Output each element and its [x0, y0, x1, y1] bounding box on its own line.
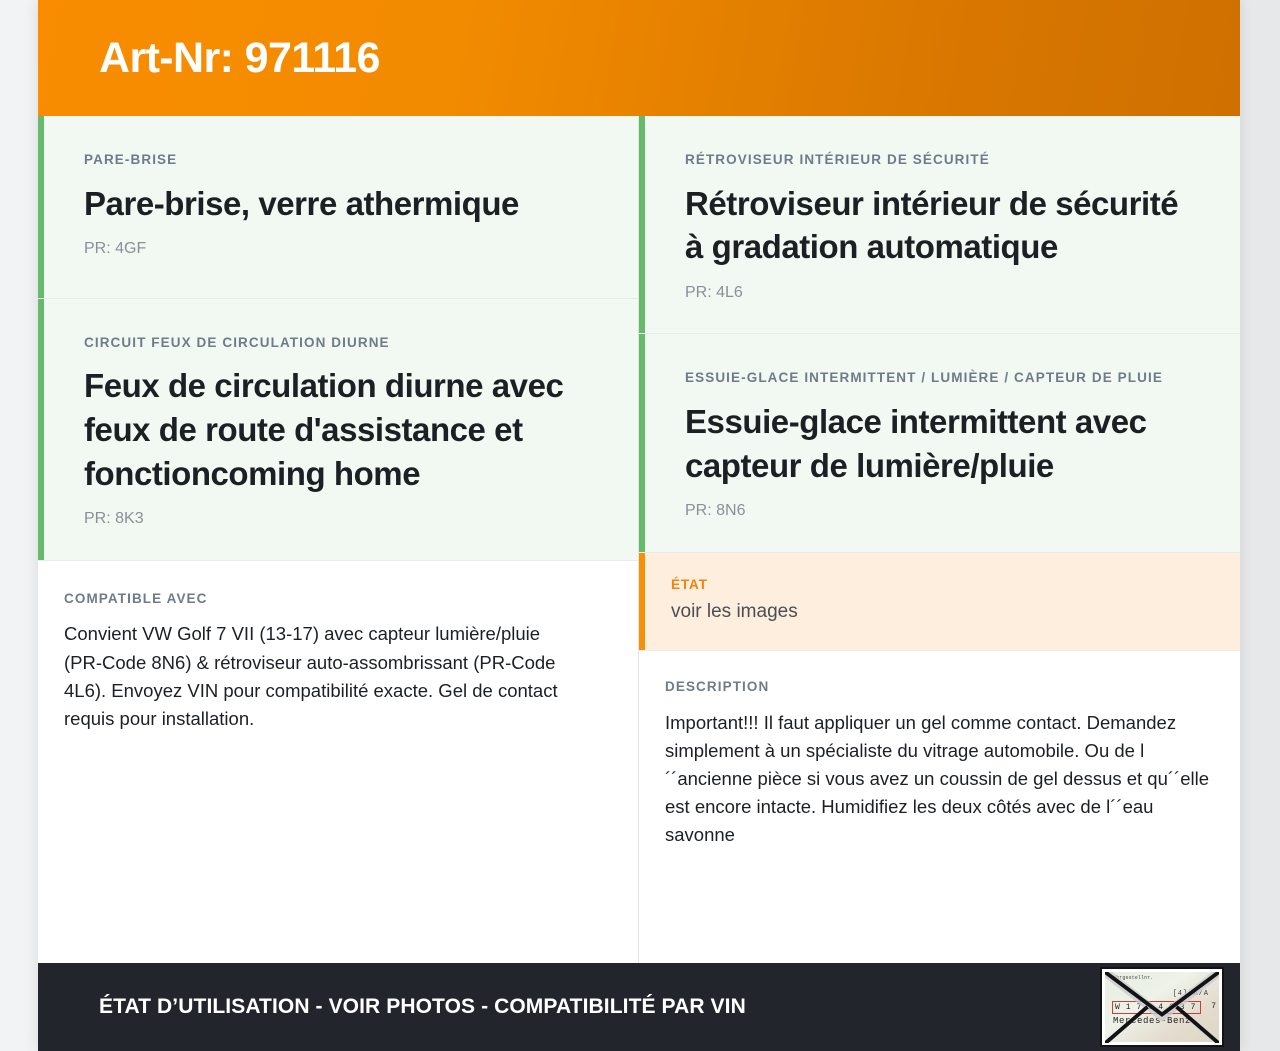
feature-card-retroviseur: RÉTROVISEUR INTÉRIEUR DE SÉCURITÉ Rétrov…: [639, 116, 1240, 334]
feature-title: Essuie-glace intermittent avec capteur d…: [685, 400, 1200, 487]
feature-pr-code: PR: 4L6: [685, 283, 1200, 304]
content-columns: PARE-BRISE Pare-brise, verre athermique …: [38, 116, 1240, 963]
feature-title: Rétroviseur intérieur de sécurité à grad…: [685, 182, 1200, 269]
vin-envelope-badge: Fahrgestellnr. [4] A/A W 1 7 1 4 6 3 7 3…: [1100, 967, 1224, 1047]
footer-bar: ÉTAT D’UTILISATION - VOIR PHOTOS - COMPA…: [38, 963, 1240, 1051]
feature-card-essuie-glace: ESSUIE-GLACE INTERMITTENT / LUMIÈRE / CA…: [639, 334, 1240, 552]
right-column-spacer: [639, 869, 1240, 963]
feature-eyebrow: CIRCUIT FEUX DE CIRCULATION DIURNE: [84, 333, 578, 353]
page-title: Art-Nr: 971116: [99, 37, 380, 80]
feature-title: Pare-brise, verre athermique: [84, 182, 578, 226]
state-card: ÉTAT voir les images: [639, 553, 1240, 651]
footer-text: ÉTAT D’UTILISATION - VOIR PHOTOS - COMPA…: [99, 995, 746, 1019]
feature-eyebrow: PARE-BRISE: [84, 150, 578, 170]
left-column-spacer: [38, 763, 638, 963]
envelope-icon: [1105, 972, 1219, 1043]
left-column: PARE-BRISE Pare-brise, verre athermique …: [38, 116, 639, 963]
feature-title: Feux de circulation diurne avec feux de …: [84, 364, 578, 495]
compatibility-text: Convient VW Golf 7 VII (13-17) avec capt…: [64, 620, 568, 732]
header-bar: Art-Nr: 971116: [38, 0, 1240, 116]
feature-card-feux-circulation: CIRCUIT FEUX DE CIRCULATION DIURNE Feux …: [38, 299, 638, 561]
compatibility-card: COMPATIBLE AVEC Convient VW Golf 7 VII (…: [38, 561, 638, 763]
state-value: voir les images: [671, 599, 1214, 626]
compatibility-eyebrow: COMPATIBLE AVEC: [64, 589, 568, 609]
description-text: Important!!! Il faut appliquer un gel co…: [665, 709, 1214, 850]
feature-pr-code: PR: 8N6: [685, 501, 1200, 522]
feature-pr-code: PR: 4GF: [84, 239, 578, 260]
feature-eyebrow: RÉTROVISEUR INTÉRIEUR DE SÉCURITÉ: [685, 150, 1200, 170]
state-eyebrow: ÉTAT: [671, 575, 1214, 595]
description-card: DESCRIPTION Important!!! Il faut appliqu…: [639, 651, 1240, 869]
description-eyebrow: DESCRIPTION: [665, 677, 1214, 697]
feature-eyebrow: ESSUIE-GLACE INTERMITTENT / LUMIÈRE / CA…: [685, 368, 1200, 388]
feature-pr-code: PR: 8K3: [84, 509, 578, 530]
product-card: Art-Nr: 971116 PARE-BRISE Pare-brise, ve…: [38, 0, 1240, 1051]
right-column: RÉTROVISEUR INTÉRIEUR DE SÉCURITÉ Rétrov…: [639, 116, 1240, 963]
feature-card-pare-brise: PARE-BRISE Pare-brise, verre athermique …: [38, 116, 638, 299]
